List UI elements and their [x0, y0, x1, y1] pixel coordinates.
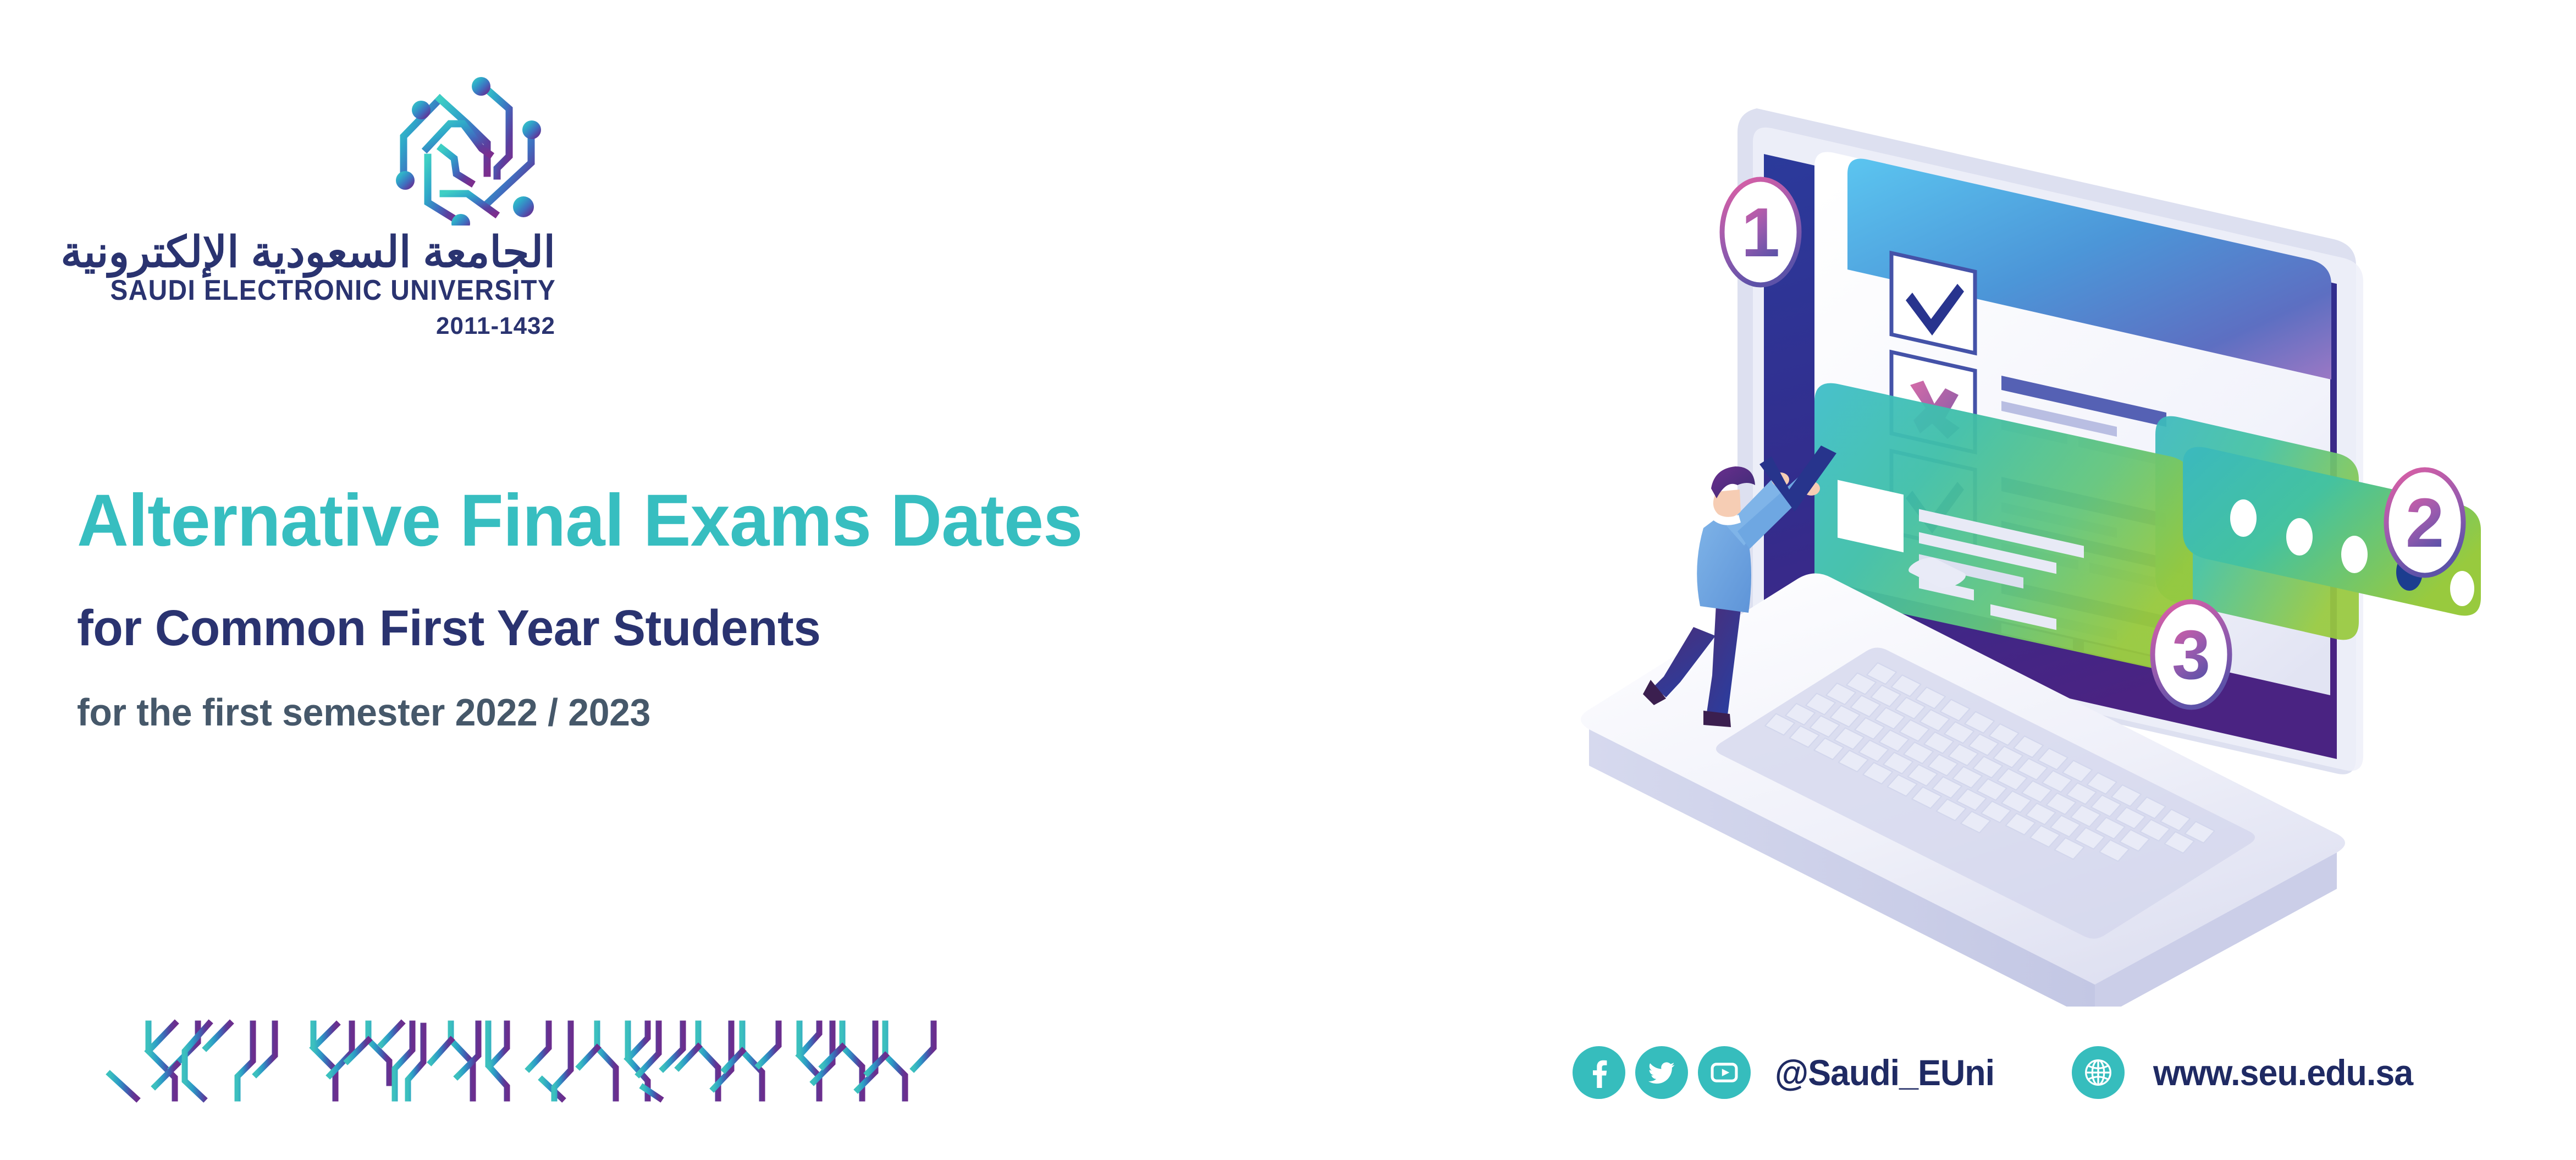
page-title: Alternative Final Exams Dates	[77, 484, 1304, 558]
banner-root: الجامعة السعودية الإلكترونية SAUDI ELECT…	[0, 0, 2576, 1160]
circuit-pattern-strip	[93, 1015, 1012, 1119]
website-url-text: www.seu.edu.sa	[2153, 1052, 2413, 1093]
page-semester-note: for the first semester 2022 / 2023	[77, 693, 1304, 732]
logo-arabic-name: الجامعة السعودية الإلكترونية	[71, 231, 555, 273]
badge-3-label: 3	[2172, 616, 2210, 694]
twitter-icon[interactable]	[1635, 1046, 1688, 1099]
facebook-icon[interactable]	[1573, 1046, 1625, 1099]
badge-1-label: 1	[1741, 194, 1780, 271]
step-badge-1: 1	[1722, 179, 1799, 285]
step-badge-2: 2	[2386, 470, 2463, 575]
headline-group: Alternative Final Exams Dates for Common…	[77, 484, 1342, 732]
university-logo: الجامعة السعودية الإلكترونية SAUDI ELECT…	[71, 66, 555, 363]
logo-english-name: SAUDI ELECTRONIC UNIVERSITY	[110, 274, 555, 307]
seu-circuit-hexagon-logo-icon	[379, 66, 555, 226]
badge-2-label: 2	[2406, 484, 2444, 562]
globe-icon[interactable]	[2072, 1046, 2125, 1099]
step-badge-3: 3	[2153, 602, 2230, 707]
logo-founding-year: 2011-1432	[71, 312, 555, 340]
footer-contact-bar: @Saudi_EUni www.seu.edu.sa	[1573, 1034, 2426, 1111]
page-subtitle: for Common First Year Students	[77, 603, 1304, 653]
logo-wordmark: الجامعة السعودية الإلكترونية SAUDI ELECT…	[71, 231, 555, 340]
youtube-icon[interactable]	[1698, 1046, 1751, 1099]
isometric-laptop-illustration: 1 2 3	[1556, 72, 2524, 1007]
social-handle-text: @Saudi_EUni	[1775, 1052, 1994, 1093]
